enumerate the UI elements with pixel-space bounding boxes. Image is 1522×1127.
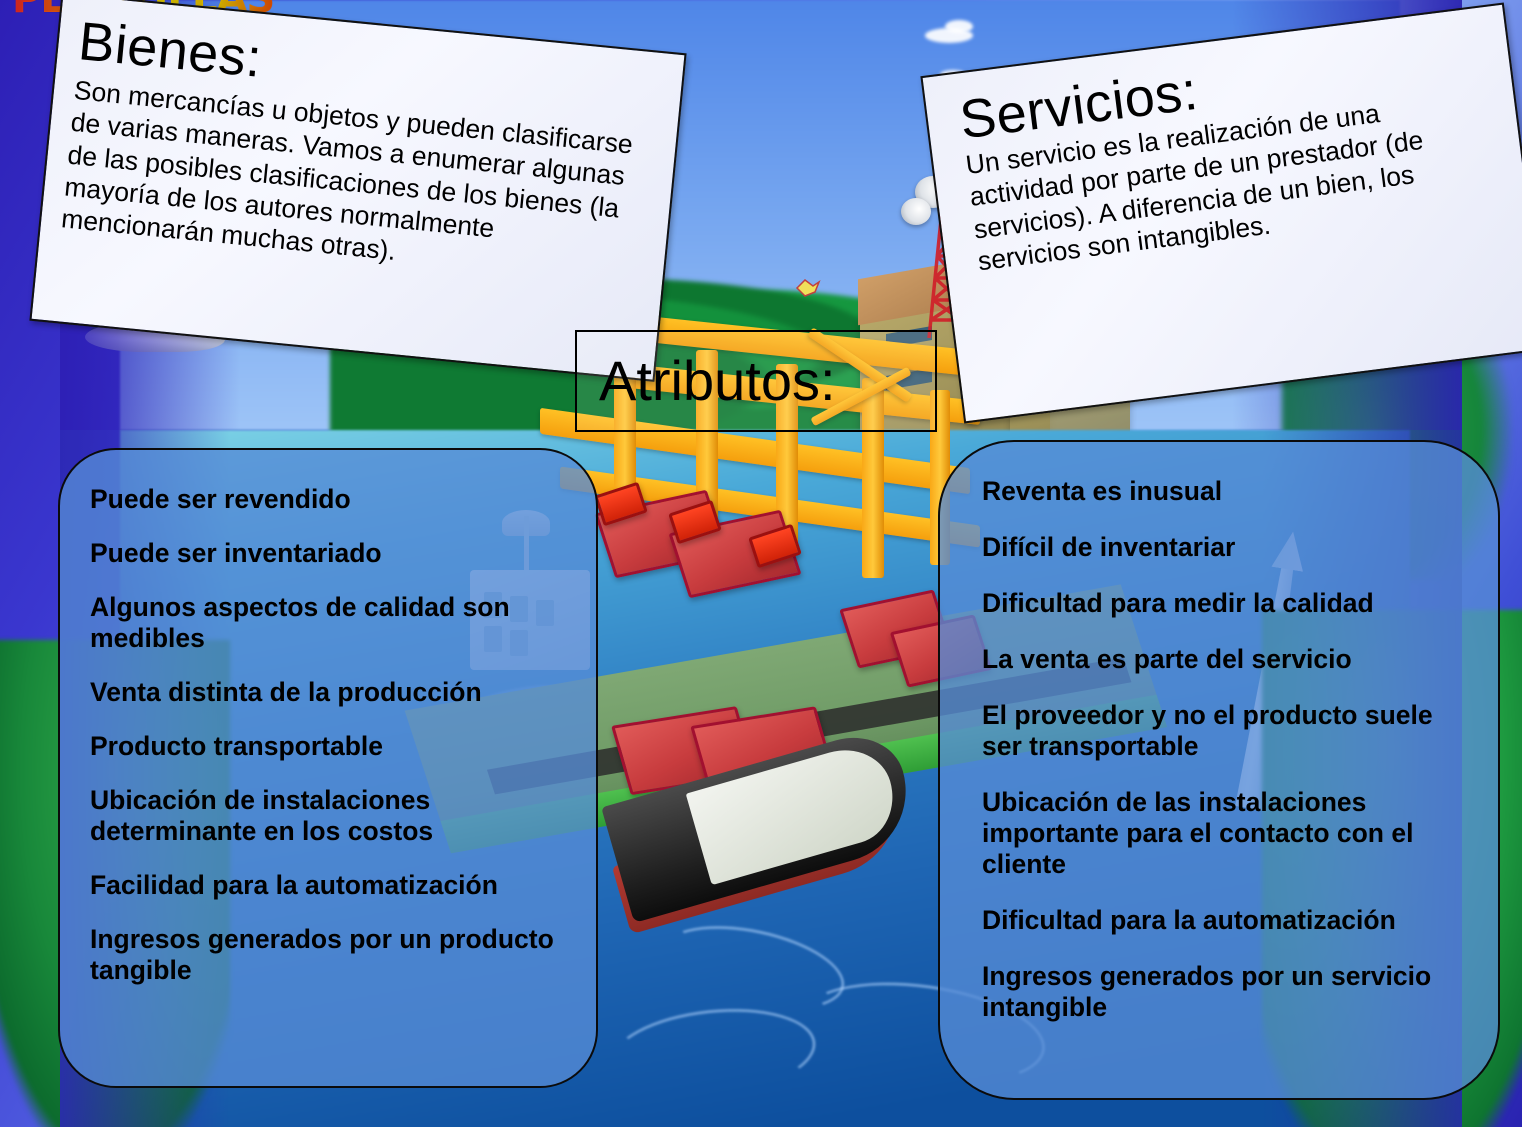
list-item: Dificultad para la automatización [982,905,1472,936]
list-item: Producto transportable [90,731,568,762]
list-item: Ingresos generados por un servicio intan… [982,961,1472,1023]
slide-canvas: PLANTILLAS Bienes: Son mercancías u obje… [0,0,1522,1127]
list-item: La venta es parte del servicio [982,644,1472,675]
list-item: Facilidad para la automatización [90,870,568,901]
cloud-icon [945,20,973,33]
list-item: Dificultad para medir la calidad [982,588,1472,619]
atributos-title: Atributos: [599,353,836,409]
servicios-attributes-panel: Reventa es inusual Difícil de inventaria… [938,440,1500,1100]
bienes-attributes-panel: Puede ser revendido Puede ser inventaria… [58,448,598,1088]
servicios-attribute-list: Reventa es inusual Difícil de inventaria… [982,476,1472,1023]
satellite-dish-icon [901,198,931,225]
list-item: Venta distinta de la producción [90,677,568,708]
servicios-callout: Servicios: Un servicio es la realización… [920,3,1522,424]
list-item: Ingresos generados por un producto tangi… [90,924,568,986]
list-item: Puede ser inventariado [90,538,568,569]
list-item: Reventa es inusual [982,476,1472,507]
atributos-title-box: Atributos: [575,330,937,432]
list-item: El proveedor y no el producto suele ser … [982,700,1472,762]
list-item: Puede ser revendido [90,484,568,515]
list-item: Ubicación de instalaciones determinante … [90,785,568,847]
list-item: Algunos aspectos de calidad son medibles [90,592,568,654]
kite-icon [795,278,821,300]
list-item: Ubicación de las instalaciones important… [982,787,1472,880]
bienes-callout: Bienes: Son mercancías u objetos y puede… [29,0,686,382]
bienes-attribute-list: Puede ser revendido Puede ser inventaria… [90,484,568,986]
list-item: Difícil de inventariar [982,532,1472,563]
